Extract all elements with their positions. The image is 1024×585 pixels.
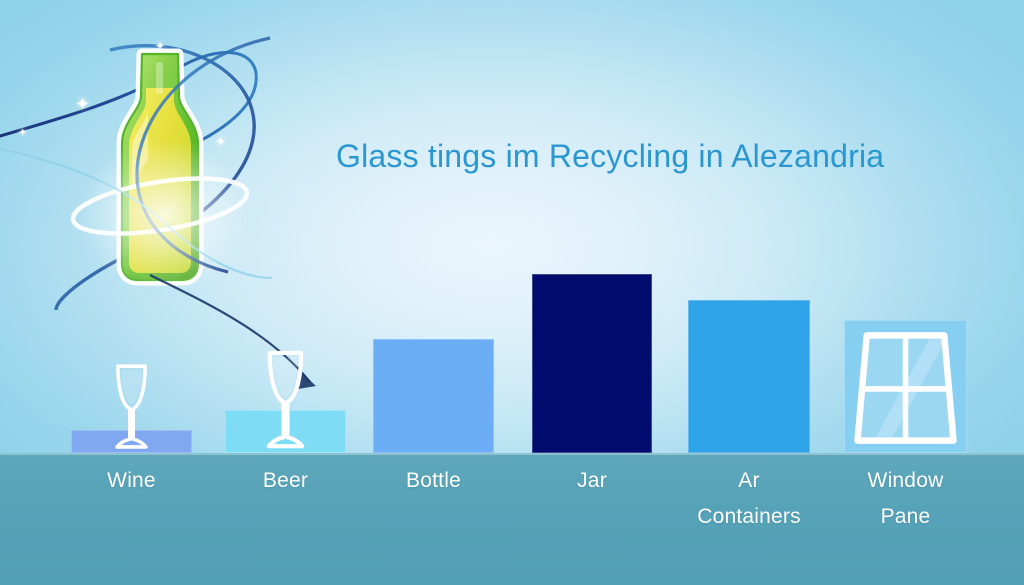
bar-label-beer: Beer bbox=[203, 463, 368, 499]
bar-rect bbox=[225, 410, 346, 453]
bar-rect bbox=[373, 339, 494, 453]
bar-wine[interactable] bbox=[71, 430, 192, 453]
bar-chart: Wine BeerBottleJarAr Containers Window P… bbox=[0, 0, 1024, 585]
bar-rect bbox=[532, 274, 652, 453]
bar-ar-containers[interactable] bbox=[688, 300, 810, 453]
bar-label-ar-containers: Ar Containers bbox=[666, 463, 832, 535]
bar-rect bbox=[71, 430, 192, 453]
recycling-chart-slide: ✦ ✦ ✦ ✦ Glass tings im Recycling in Alez… bbox=[0, 0, 1024, 585]
bar-window-pane[interactable] bbox=[844, 320, 967, 453]
bar-label-wine: Wine bbox=[49, 463, 214, 499]
bar-label-jar: Jar bbox=[510, 463, 674, 499]
bar-label-bottle: Bottle bbox=[351, 463, 516, 499]
bar-rect bbox=[688, 300, 810, 453]
bar-bottle[interactable] bbox=[373, 339, 494, 453]
bar-beer[interactable] bbox=[225, 410, 346, 453]
bar-jar[interactable] bbox=[532, 274, 652, 453]
bar-label-window-pane: Window Pane bbox=[822, 463, 989, 535]
bar-rect bbox=[844, 320, 967, 453]
